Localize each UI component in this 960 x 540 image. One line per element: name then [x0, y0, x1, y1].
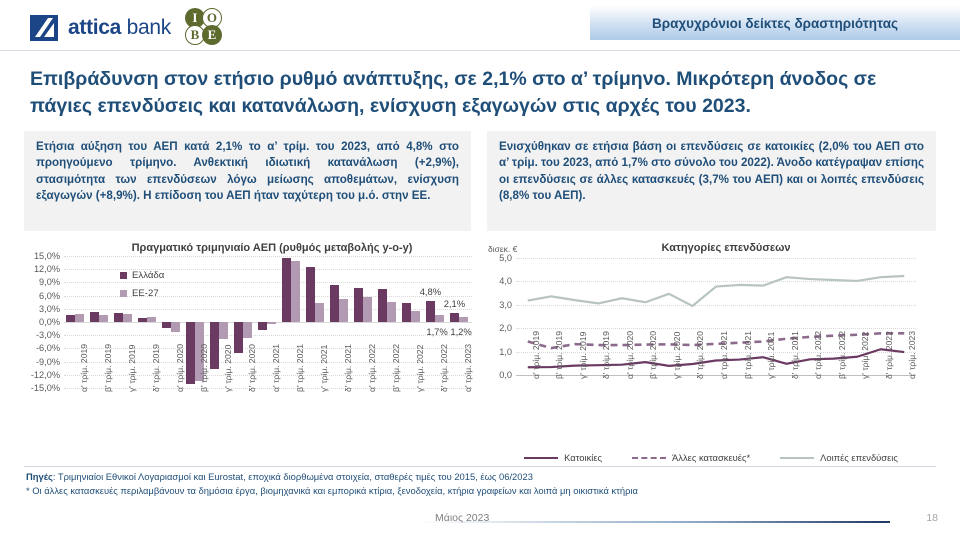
- y-axis-tick: 3,0%: [39, 304, 60, 314]
- sources-divider: [24, 466, 936, 467]
- sources-line: Πηγές: Τριμηνιαίοι Εθνικοί Λογαριασμοί κ…: [26, 470, 638, 484]
- x-axis-label-11: δ' τρίμ. 2021: [790, 331, 800, 379]
- x-axis-label-15: δ' τρίμ. 2022: [439, 344, 449, 392]
- iobe-letter-e: E: [202, 25, 222, 45]
- data-label-1: 2,1%: [444, 298, 465, 309]
- bar-greece-11: [330, 285, 339, 322]
- x-axis-label-0: α' τρίμ. 2019: [531, 331, 541, 379]
- attica-wordmark: attica bank: [68, 16, 171, 40]
- x-axis-label-11: δ' τρίμ. 2021: [343, 344, 353, 392]
- bar-eu-6: [219, 322, 228, 339]
- x-axis-label-7: δ' τρίμ. 2020: [695, 331, 705, 379]
- bar-greece-2: [114, 313, 123, 322]
- bar-eu-7: [243, 322, 252, 338]
- page-title: Επιβράδυνση στον ετήσιο ρυθμό ανάπτυξης,…: [30, 66, 935, 120]
- chart-gdp-legend-eu: ΕΕ-27: [120, 288, 159, 299]
- legend-line-katoikies: [524, 457, 558, 459]
- sources-block: Πηγές: Τριμηνιαίοι Εθνικοί Λογαριασμοί κ…: [26, 470, 638, 498]
- legend-label-greece: Ελλάδα: [132, 270, 164, 281]
- bar-eu-12: [363, 297, 372, 322]
- chart-gdp-legend-greece: Ελλάδα: [120, 270, 164, 281]
- bar-eu-1: [99, 315, 108, 322]
- bar-greece-4: [162, 322, 171, 328]
- legend-line-alles-kataskeves: [632, 457, 666, 459]
- bar-eu-9: [291, 261, 300, 322]
- legend-label-katoikies: Κατοικίες: [564, 452, 602, 463]
- x-axis-label-14: γ' τρίμ. 2022: [415, 345, 425, 392]
- bar-eu-10: [315, 303, 324, 322]
- line-series-group: [516, 258, 916, 375]
- attica-mark-icon: [30, 13, 60, 43]
- x-axis-label-6: γ' τρίμ. 2020: [223, 345, 233, 392]
- bar-eu-8: [267, 322, 276, 324]
- legend-label-eu: ΕΕ-27: [132, 288, 159, 299]
- y-axis-tick: -3,0%: [36, 330, 60, 340]
- x-axis-label-4: α' τρίμ. 2020: [175, 344, 185, 392]
- bar-eu-0: [75, 314, 84, 322]
- chart-gdp-title: Πραγματικό τριμηνιαίο ΑΕΠ (ρυθμός μεταβο…: [22, 242, 482, 254]
- footer-rule: [420, 521, 890, 523]
- y-axis-tick: 0,0: [499, 370, 512, 380]
- legend-item-alles-kataskeves: Άλλες κατασκευές*: [632, 452, 750, 463]
- bar-eu-15: [435, 315, 444, 322]
- x-axis-label-8: α' τρίμ. 2021: [719, 331, 729, 379]
- y-axis-tick: 4,0: [499, 276, 512, 286]
- x-axis-label-6: γ' τρίμ. 2020: [672, 332, 682, 379]
- gridline: [64, 256, 472, 257]
- x-axis-label-12: α' τρίμ. 2022: [813, 331, 823, 379]
- bar-eu-3: [147, 317, 156, 322]
- chart-gdp: Πραγματικό τριμηνιαίο ΑΕΠ (ρυθμός μεταβο…: [22, 240, 482, 465]
- bar-greece-10: [306, 267, 315, 322]
- x-axis-label-16: α' τρίμ. 2023: [907, 331, 917, 379]
- bar-greece-16: [450, 313, 459, 322]
- sources-text: : Τριμηνιαίοι Εθνικοί Λογαριασμοί και Eu…: [53, 471, 533, 482]
- chart-investments: Κατηγορίες επενδύσεων δισεκ. € 5,04,03,0…: [482, 240, 940, 465]
- y-axis-tick: -6,0%: [36, 343, 60, 353]
- data-label-0: 4,8%: [420, 286, 441, 297]
- header-divider: [0, 50, 960, 51]
- gridline: [64, 375, 472, 376]
- bar-eu-4: [171, 322, 180, 332]
- bar-greece-7: [234, 322, 243, 353]
- bar-eu-2: [123, 314, 132, 322]
- summary-box-left: Ετήσια αύξηση του ΑΕΠ κατά 2,1% το α’ τρ…: [24, 131, 471, 231]
- y-axis-tick: 1,0: [499, 347, 512, 357]
- x-axis-label-14: γ' τρίμ. 2022: [860, 332, 870, 379]
- x-axis-label-5: β' τρίμ. 2020: [199, 344, 209, 392]
- bar-eu-14: [411, 311, 420, 322]
- legend-line-loipes: [780, 457, 814, 459]
- gridline: [64, 348, 472, 349]
- page-number: 18: [926, 512, 938, 524]
- x-axis-label-1: β' τρίμ. 2019: [103, 344, 113, 392]
- y-axis-tick: 2,0: [499, 323, 512, 333]
- bar-greece-12: [354, 288, 363, 322]
- sources-label: Πηγές: [26, 471, 53, 482]
- bar-greece-14: [402, 303, 411, 322]
- bar-eu-16: [459, 317, 468, 322]
- y-axis-tick: 12,0%: [34, 264, 60, 274]
- x-axis-label-13: β' τρίμ. 2022: [837, 331, 847, 379]
- legend-swatch-eu: [120, 290, 127, 297]
- x-axis-line: [516, 375, 916, 376]
- y-axis-tick: 0,0%: [39, 317, 60, 327]
- x-axis-label-1: β' τρίμ. 2019: [554, 331, 564, 379]
- x-axis-label-9: β' τρίμ. 2021: [295, 344, 305, 392]
- slide: attica bank I O B E Βραχυχρόνιοι δείκτες…: [0, 0, 960, 540]
- x-axis-label-7: δ' τρίμ. 2020: [247, 344, 257, 392]
- bar-eu-13: [387, 302, 396, 322]
- bar-greece-9: [282, 258, 291, 322]
- gridline: [64, 362, 472, 363]
- bar-greece-0: [66, 315, 75, 322]
- bar-greece-3: [138, 318, 147, 322]
- bar-greece-15: [426, 301, 435, 322]
- y-axis-tick: 3,0: [499, 300, 512, 310]
- brand-secondary: bank: [127, 16, 171, 39]
- bar-greece-6: [210, 322, 219, 369]
- legend-label-loipes: Λοιπές επενδύσεις: [820, 452, 898, 463]
- x-axis-label-13: β' τρίμ. 2022: [391, 344, 401, 392]
- y-axis-tick: 6,0%: [39, 291, 60, 301]
- x-axis-label-10: γ' τρίμ. 2021: [766, 332, 776, 379]
- y-axis-tick: 5,0: [499, 253, 512, 263]
- bar-greece-8: [258, 322, 267, 330]
- y-axis-tick: -15,0%: [31, 383, 60, 393]
- section-banner-label: Βραχυχρόνιοι δείκτες δραστηριότητας: [652, 16, 898, 31]
- x-axis-label-0: α' τρίμ. 2019: [79, 344, 89, 392]
- gridline: [64, 388, 472, 389]
- x-axis-label-8: α' τρίμ. 2021: [271, 344, 281, 392]
- gridline: [64, 335, 472, 336]
- legend-label-alles-kataskeves: Άλλες κατασκευές*: [672, 452, 750, 463]
- x-axis-label-2: γ' τρίμ. 2019: [578, 332, 588, 379]
- x-axis-label-10: γ' τρίμ. 2021: [319, 345, 329, 392]
- logo-group: attica bank I O B E: [30, 8, 231, 48]
- bar-eu-11: [339, 299, 348, 322]
- data-label-3: 1,2%: [450, 326, 471, 337]
- y-axis-tick: 9,0%: [39, 277, 60, 287]
- chart-investments-plot: 5,04,03,02,01,00,0: [516, 258, 916, 375]
- y-axis-tick: 15,0%: [34, 251, 60, 261]
- brand-primary: attica: [68, 16, 121, 39]
- data-label-2: 1,7%: [426, 326, 447, 337]
- x-axis-label-12: α' τρίμ. 2022: [367, 344, 377, 392]
- line-2: [528, 276, 904, 306]
- bar-greece-13: [378, 289, 387, 322]
- iobe-logo: I O B E: [185, 8, 231, 48]
- x-axis-label-3: δ' τρίμ. 2019: [151, 344, 161, 392]
- y-axis-tick: -9,0%: [36, 357, 60, 367]
- x-axis-label-3: δ' τρίμ. 2019: [601, 331, 611, 379]
- gridline: [64, 282, 472, 283]
- x-axis-label-4: α' τρίμ. 2020: [625, 331, 635, 379]
- legend-item-katoikies: Κατοικίες: [524, 452, 602, 463]
- x-axis-label-9: β' τρίμ. 2021: [743, 331, 753, 379]
- legend-item-loipes: Λοιπές επενδύσεις: [780, 452, 898, 463]
- x-axis-label-15: δ' τρίμ. 2022: [884, 331, 894, 379]
- summary-box-right: Ενισχύθηκαν σε ετήσια βάση οι επενδύσεις…: [487, 131, 936, 231]
- section-banner: Βραχυχρόνιοι δείκτες δραστηριότητας: [590, 6, 960, 40]
- y-axis-tick: -12,0%: [31, 370, 60, 380]
- x-axis-label-5: β' τρίμ. 2020: [648, 331, 658, 379]
- footer-date: Μάιος 2023: [435, 512, 489, 524]
- chart-investments-title: Κατηγορίες επενδύσεων: [482, 242, 940, 254]
- bar-greece-5: [186, 322, 195, 384]
- legend-swatch-greece: [120, 272, 127, 279]
- slide-header: attica bank I O B E Βραχυχρόνιοι δείκτες…: [0, 0, 960, 52]
- attica-bank-logo: attica bank: [30, 13, 171, 43]
- x-axis-label-2: γ' τρίμ. 2019: [127, 345, 137, 392]
- x-axis-label-16: α' τρίμ. 2023: [463, 344, 473, 392]
- bar-greece-1: [90, 312, 99, 322]
- footnote: * Οι άλλες κατασκευές περιλαμβάνουν τα δ…: [26, 484, 638, 498]
- chart-investments-legend: Κατοικίες Άλλες κατασκευές* Λοιπές επενδ…: [482, 452, 940, 463]
